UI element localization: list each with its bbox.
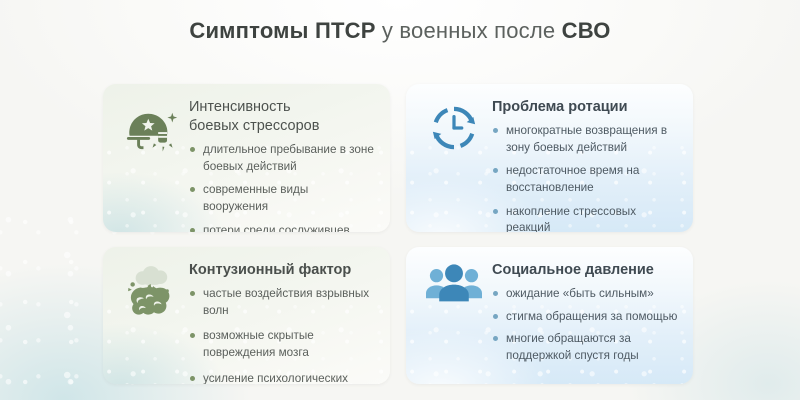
list-item: потери среди сослуживцев	[189, 223, 376, 232]
list-item: усиление психологических симптомов	[189, 371, 376, 384]
card-title: Интенсивность боевых стрессоров	[189, 98, 376, 136]
list-item: накопление стрессовых реакций	[492, 204, 679, 232]
list-item: современные виды вооружения	[189, 182, 376, 215]
slide-root: Симптомы ПТСР у военных после СВО	[0, 0, 800, 400]
cards-grid: Интенсивность боевых стрессоров длительн…	[103, 84, 693, 384]
card-social-pressure[interactable]: Социальное давление ожидание «быть сильн…	[406, 247, 693, 384]
card-title-line-2: боевых стрессоров	[189, 118, 319, 134]
card-bullet-list: многократные возвращения в зону боевых д…	[492, 123, 679, 232]
page-title-light: у военных после	[376, 18, 562, 43]
page-title-bold-first: Симптомы ПТСР	[189, 18, 375, 43]
list-item: стигма обращения за помощью	[492, 309, 679, 326]
card-bullet-list: длительное пребывание в зоне боевых дейс…	[189, 142, 376, 232]
card-title-line-1: Интенсивность	[189, 99, 291, 115]
people-group-icon	[418, 259, 490, 374]
card-title: Проблема ротации	[492, 98, 679, 117]
brain-blast-icon	[115, 259, 187, 374]
list-item: недостаточное время на восстановление	[492, 163, 679, 196]
clock-rotation-icon	[418, 96, 490, 222]
card-title: Социальное давление	[492, 261, 679, 280]
card-bullet-list: ожидание «быть сильным» стигма обращения…	[492, 286, 679, 364]
list-item: ожидание «быть сильным»	[492, 286, 679, 303]
list-item: частые воздействия взрывных волн	[189, 286, 376, 319]
list-item: многие обращаются за поддержкой спустя г…	[492, 331, 679, 364]
list-item: многократные возвращения в зону боевых д…	[492, 123, 679, 156]
list-item: длительное пребывание в зоне боевых дейс…	[189, 142, 376, 175]
list-item: возможные скрытые повреждения мозга	[189, 328, 376, 361]
card-rotation-problem[interactable]: Проблема ротации многократные возвращени…	[406, 84, 693, 232]
helmet-bullet-icon	[115, 96, 187, 222]
card-intensity-of-combat-stressors[interactable]: Интенсивность боевых стрессоров длительн…	[103, 84, 390, 232]
page-title-bold-last: СВО	[562, 18, 611, 43]
card-contusion-factor[interactable]: Контузионный фактор частые воздействия в…	[103, 247, 390, 384]
card-bullet-list: частые воздействия взрывных волн возможн…	[189, 286, 376, 384]
page-title: Симптомы ПТСР у военных после СВО	[0, 18, 800, 44]
card-title: Контузионный фактор	[189, 261, 376, 280]
